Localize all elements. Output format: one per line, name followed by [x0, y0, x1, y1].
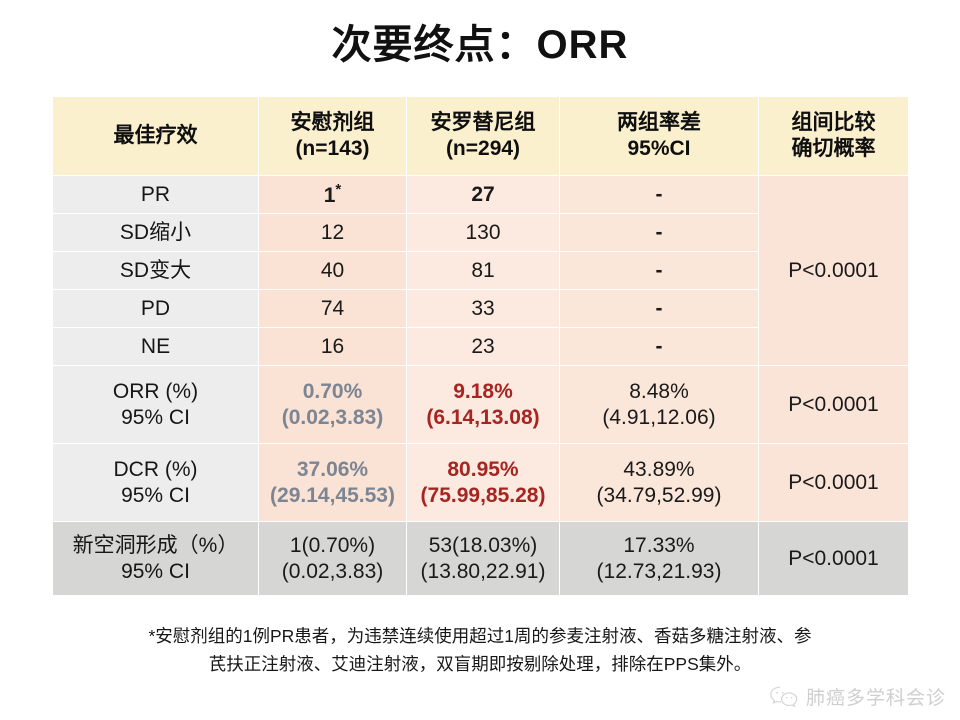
- cell-rate-difference: -: [560, 176, 759, 214]
- row-label-line2: 95% CI: [53, 559, 258, 585]
- table-row-dcr: DCR (%) 95% CI 37.06% (29.14,45.53) 80.9…: [53, 444, 909, 522]
- cell-placebo: 12: [259, 214, 407, 252]
- column-header-p-value: 组间比较 确切概率: [759, 97, 909, 176]
- cell-ci: (29.14,45.53): [259, 483, 406, 509]
- cell-placebo: 37.06% (29.14,45.53): [259, 444, 407, 522]
- cell-p-value: P<0.0001: [759, 366, 909, 444]
- cell-value: -: [656, 259, 663, 282]
- cell-rate-difference: 17.33% (12.73,21.93): [560, 522, 759, 596]
- table-header: 最佳疗效 安慰剂组 (n=143) 安罗替尼组 (n=294) 两组率差 95%…: [53, 97, 909, 176]
- cell-value: 27: [471, 183, 494, 206]
- cell-value: 43.89%: [560, 457, 758, 483]
- cell-placebo: 1*: [259, 176, 407, 214]
- cell-placebo: 16: [259, 328, 407, 366]
- cell-rate-difference: -: [560, 328, 759, 366]
- cell-ci: (12.73,21.93): [560, 559, 758, 585]
- cell-value: -: [656, 335, 663, 358]
- cell-anlotinib: 53(18.03%) (13.80,22.91): [407, 522, 560, 596]
- cell-placebo: 1(0.70%) (0.02,3.83): [259, 522, 407, 596]
- cell-placebo: 74: [259, 290, 407, 328]
- table-row-orr: ORR (%) 95% CI 0.70% (0.02,3.83) 9.18% (…: [53, 366, 909, 444]
- row-label: DCR (%) 95% CI: [53, 444, 259, 522]
- cell-rate-difference: -: [560, 290, 759, 328]
- cell-ci: (4.91,12.06): [560, 405, 758, 431]
- watermark: 肺癌多学科会诊: [769, 683, 946, 710]
- cell-value: 1(0.70%): [259, 533, 406, 559]
- header-row: 最佳疗效 安慰剂组 (n=143) 安罗替尼组 (n=294) 两组率差 95%…: [53, 97, 909, 176]
- watermark-text: 肺癌多学科会诊: [806, 683, 946, 710]
- page-title: 次要终点：ORR: [0, 22, 960, 68]
- footnote-marker: *: [335, 181, 341, 198]
- column-header-anlotinib: 安罗替尼组 (n=294): [407, 97, 560, 176]
- header-line: 组间比较: [759, 110, 908, 136]
- orr-results-table: 最佳疗效 安慰剂组 (n=143) 安罗替尼组 (n=294) 两组率差 95%…: [52, 96, 909, 596]
- table-row-cavitation: 新空洞形成（%） 95% CI 1(0.70%) (0.02,3.83) 53(…: [53, 522, 909, 596]
- cell-ci: (0.02,3.83): [259, 405, 406, 431]
- header-line: (n=294): [407, 136, 559, 162]
- header-line: (n=143): [259, 136, 406, 162]
- cell-p-value-merged: P<0.0001: [759, 176, 909, 366]
- cell-anlotinib: 130: [407, 214, 560, 252]
- cell-value: 1: [324, 184, 336, 207]
- table-row: PR 1* 27 - P<0.0001: [53, 176, 909, 214]
- cell-anlotinib: 81: [407, 252, 560, 290]
- header-line: 95%CI: [560, 136, 758, 162]
- cell-value: 9.18%: [407, 379, 559, 405]
- row-label: SD缩小: [53, 214, 259, 252]
- cell-anlotinib: 33: [407, 290, 560, 328]
- cell-rate-difference: -: [560, 214, 759, 252]
- cell-value: 37.06%: [259, 457, 406, 483]
- row-label: ORR (%) 95% CI: [53, 366, 259, 444]
- cell-value: -: [656, 297, 663, 320]
- cell-value: -: [656, 183, 663, 206]
- cell-rate-difference: 8.48% (4.91,12.06): [560, 366, 759, 444]
- cell-value: 0.70%: [259, 379, 406, 405]
- wechat-icon: [769, 685, 799, 709]
- row-label-line2: 95% CI: [53, 405, 258, 431]
- header-line: 确切概率: [759, 136, 908, 162]
- cell-anlotinib: 23: [407, 328, 560, 366]
- cell-value: 8.48%: [560, 379, 758, 405]
- cell-ci: (0.02,3.83): [259, 559, 406, 585]
- row-label: PD: [53, 290, 259, 328]
- row-label: NE: [53, 328, 259, 366]
- cell-ci: (6.14,13.08): [407, 405, 559, 431]
- cell-ci: (34.79,52.99): [560, 483, 758, 509]
- cell-value: 53(18.03%): [407, 533, 559, 559]
- column-header-best-response: 最佳疗效: [53, 97, 259, 176]
- table-body: PR 1* 27 - P<0.0001 SD缩小 12 130 - SD变大 4…: [53, 176, 909, 596]
- header-line: 安慰剂组: [259, 110, 406, 136]
- cell-placebo: 0.70% (0.02,3.83): [259, 366, 407, 444]
- cell-rate-difference: 43.89% (34.79,52.99): [560, 444, 759, 522]
- row-label: SD变大: [53, 252, 259, 290]
- cell-value: 80.95%: [407, 457, 559, 483]
- row-label-line1: ORR (%): [53, 379, 258, 405]
- cell-value: -: [656, 221, 663, 244]
- orr-table-container: 最佳疗效 安慰剂组 (n=143) 安罗替尼组 (n=294) 两组率差 95%…: [52, 96, 908, 596]
- cell-placebo: 40: [259, 252, 407, 290]
- footnote-line-1: *安慰剂组的1例PR患者，为违禁连续使用超过1周的参麦注射液、香菇多糖注射液、参: [46, 622, 914, 650]
- row-label-line2: 95% CI: [53, 483, 258, 509]
- cell-ci: (75.99,85.28): [407, 483, 559, 509]
- cell-anlotinib: 9.18% (6.14,13.08): [407, 366, 560, 444]
- row-label-line1: 新空洞形成（%）: [53, 533, 258, 559]
- cell-anlotinib: 27: [407, 176, 560, 214]
- cell-p-value: P<0.0001: [759, 522, 909, 596]
- cell-anlotinib: 80.95% (75.99,85.28): [407, 444, 560, 522]
- header-line: 两组率差: [560, 110, 758, 136]
- footnote: *安慰剂组的1例PR患者，为违禁连续使用超过1周的参麦注射液、香菇多糖注射液、参…: [46, 622, 914, 679]
- row-label: PR: [53, 176, 259, 214]
- row-label-line1: DCR (%): [53, 457, 258, 483]
- footnote-line-2: 芪扶正注射液、艾迪注射液，双盲期即按剔除处理，排除在PPS集外。: [46, 650, 914, 678]
- cell-value: 17.33%: [560, 533, 758, 559]
- cell-ci: (13.80,22.91): [407, 559, 559, 585]
- header-line: 最佳疗效: [53, 123, 258, 149]
- row-label: 新空洞形成（%） 95% CI: [53, 522, 259, 596]
- cell-rate-difference: -: [560, 252, 759, 290]
- header-line: 安罗替尼组: [407, 110, 559, 136]
- column-header-rate-difference: 两组率差 95%CI: [560, 97, 759, 176]
- cell-p-value: P<0.0001: [759, 444, 909, 522]
- column-header-placebo: 安慰剂组 (n=143): [259, 97, 407, 176]
